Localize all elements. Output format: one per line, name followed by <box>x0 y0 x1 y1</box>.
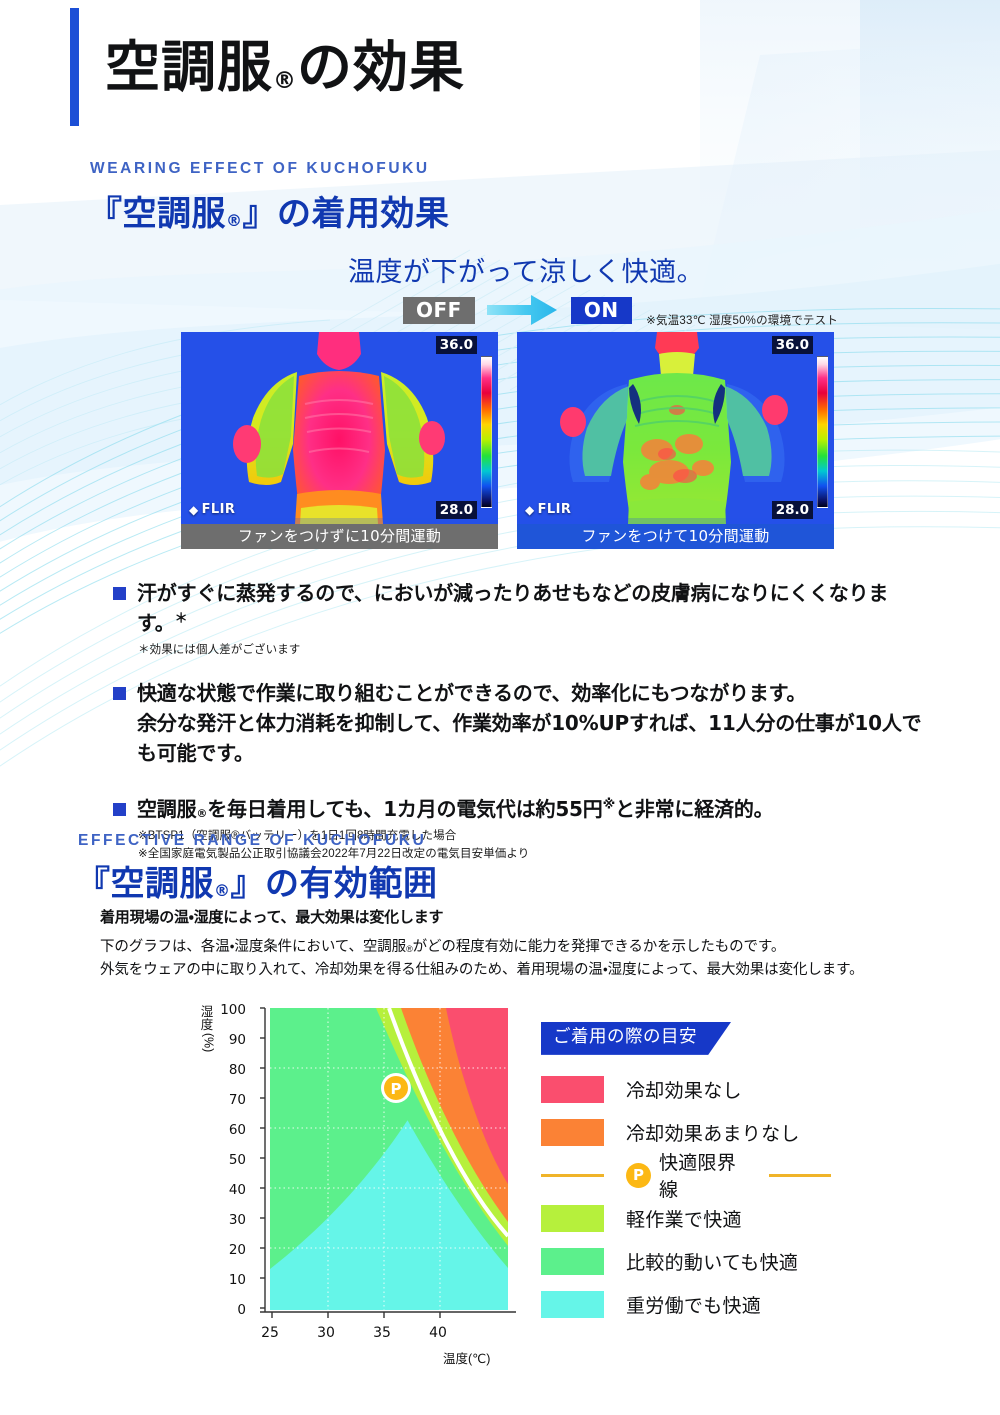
chart-zones <box>270 1008 508 1310</box>
legend-line-left <box>541 1174 604 1177</box>
thermal-caption-on: ファンをつけて10分間運動 <box>517 524 834 549</box>
legend-item-comfort-limit: P 快適限界線 <box>541 1154 831 1197</box>
legend-item-moderate-work: 比較的動いても快適 <box>541 1240 831 1283</box>
legend-label: 比較的動いても快適 <box>626 1248 798 1275</box>
chart-legend: ご着用の際の目安 冷却効果なし 冷却効果あまりなし P 快適限界線 軽作業で快適 <box>541 1022 831 1326</box>
thermal-temp-high: 36.0 <box>772 336 813 354</box>
legend-item-no-cooling: 冷却効果なし <box>541 1068 831 1111</box>
list-item: 空調服®を毎日着用しても、1カ月の電気代は約55円※と非常に経済的。 <box>113 794 923 824</box>
bullet-text-post: を毎日着用しても、1カ月の電気代は約55円 <box>207 797 602 821</box>
section2-subtitle-jp: 『空調服®』の有効範囲 <box>76 856 438 905</box>
thermal-temp-low: 28.0 <box>772 501 813 519</box>
thermal-caption-off: ファンをつけずに10分間運動 <box>181 524 498 549</box>
bullet-text: 汗がすぐに蒸発するので、においが減ったりあせもなどの皮膚病になりにくくなります。… <box>137 578 923 638</box>
flir-diamond-icon: ◆ <box>525 504 535 516</box>
lead-headline: 温度が下がって涼しく快適。 <box>348 250 704 289</box>
effective-range-chart: 湿度 (%) 100 90 80 70 60 50 40 30 20 10 0 <box>198 1000 518 1350</box>
section2-subheading: 着用現場の温・湿度によって、最大効果は変化します <box>100 906 443 927</box>
thermal-scale-bar <box>817 356 828 508</box>
bullet-footnote-mark: ※ <box>603 797 615 812</box>
legend-label: 重労働でも快適 <box>626 1291 761 1318</box>
bullet-text-second-line: 余分な発汗と体力消耗を抑制して、作業効率が10%UPすれば、11人分の仕事が10… <box>137 708 923 768</box>
section1-jp-open: 『空調服 <box>88 194 226 234</box>
chart-ytick: 80 <box>212 1062 246 1078</box>
legend-label: 快適限界線 <box>659 1148 755 1202</box>
page-title-tail: の効果 <box>297 35 465 99</box>
chart-x-axis-label: 温度(℃) <box>443 1348 490 1367</box>
legend-p-marker-icon: P <box>626 1163 651 1188</box>
thermal-card-off: 36.0 28.0 ◆ FLIR ファンをつけずに10分間運動 <box>181 332 498 549</box>
bullet-square-icon <box>113 687 126 700</box>
flir-wordmark: FLIR <box>538 502 572 517</box>
flir-logo: ◆ FLIR <box>525 502 571 517</box>
bullet-square-icon <box>113 803 126 816</box>
flir-wordmark: FLIR <box>202 502 236 517</box>
chart-ytick: 100 <box>212 1002 246 1018</box>
page-title-text: 空調服 <box>105 35 273 99</box>
bullet-note: ＊効果には個人差がございます <box>138 642 923 660</box>
bullet-text: 空調服®を毎日着用しても、1カ月の電気代は約55円※と非常に経済的。 <box>137 794 773 824</box>
chart-xtick: 25 <box>250 1325 290 1341</box>
section2-body-line1-a: 下のグラフは、各温・湿度条件において、空調服 <box>100 939 406 955</box>
chart-ytick: 20 <box>212 1242 246 1258</box>
chart-xtick: 30 <box>306 1325 346 1341</box>
legend-swatch <box>541 1119 604 1146</box>
registered-mark-icon: ® <box>226 211 243 230</box>
section2-jp-open: 『空調服 <box>76 864 214 904</box>
chart-ytick: 40 <box>212 1182 246 1198</box>
chart-ytick: 10 <box>212 1272 246 1288</box>
benefit-list: 汗がすぐに蒸発するので、においが減ったりあせもなどの皮膚病になりにくくなります。… <box>113 578 923 863</box>
on-badge: ON <box>571 297 632 324</box>
section1-subtitle-jp: 『空調服®』の着用効果 <box>88 186 450 235</box>
legend-items: 冷却効果なし 冷却効果あまりなし P 快適限界線 軽作業で快適 比較的動いても快… <box>541 1068 831 1326</box>
legend-header: ご着用の際の目安 <box>541 1022 731 1055</box>
brochure-page: 空調服®の効果 WEARING EFFECT OF KUCHOFUKU 『空調服… <box>0 0 1000 1415</box>
list-item: 汗がすぐに蒸発するので、においが減ったりあせもなどの皮膚病になりにくくなります。… <box>113 578 923 638</box>
registered-mark-icon: ® <box>196 807 207 820</box>
list-item: 快適な状態で作業に取り組むことができるので、効率化にもつながります。 余分な発汗… <box>113 678 923 768</box>
thermal-temp-low: 28.0 <box>436 501 477 519</box>
chart-xtick: 35 <box>362 1325 402 1341</box>
bullet-square-icon <box>113 587 126 600</box>
chart-ytick: 0 <box>212 1302 246 1318</box>
off-badge: OFF <box>403 297 475 324</box>
bullet-text-pre: 空調服 <box>137 797 196 821</box>
arrow-right-icon <box>487 293 559 327</box>
section1-subtitle-en: WEARING EFFECT OF KUCHOFUKU <box>90 160 430 178</box>
page-header: 空調服®の効果 <box>70 8 465 140</box>
section2-body-line2: 外気をウェアの中に取り入れて、冷却効果を得る仕組みのため、着用現場の温・湿度によ… <box>100 959 864 982</box>
legend-swatch <box>541 1248 604 1275</box>
section1-jp-close: 』の着用効果 <box>243 194 450 234</box>
flir-diamond-icon: ◆ <box>189 504 199 516</box>
legend-label: 軽作業で快適 <box>626 1205 742 1232</box>
chart-plot: P <box>198 1000 518 1345</box>
thermal-scale-bar <box>481 356 492 508</box>
legend-swatch <box>541 1291 604 1318</box>
bullet-text-main: 汗がすぐに蒸発するので、においが減ったりあせもなどの皮膚病になりにくくなります。 <box>137 581 888 635</box>
chart-p-marker: P <box>381 1073 411 1103</box>
section2-body: 下のグラフは、各温・湿度条件において、空調服®がどの程度有効に能力を発揮できるか… <box>100 936 864 983</box>
thermal-card-on: 36.0 28.0 ◆ FLIR ファンをつけて10分間運動 <box>517 332 834 549</box>
chart-ytick: 70 <box>212 1092 246 1108</box>
bullet-text: 快適な状態で作業に取り組むことができるので、効率化にもつながります。 <box>137 678 923 708</box>
bullet-footnote-mark: ＊ <box>175 611 188 626</box>
thermal-image-off: 36.0 28.0 ◆ FLIR <box>181 332 498 524</box>
legend-line-right <box>769 1174 831 1177</box>
legend-swatch <box>541 1205 604 1232</box>
thermal-comparison: 36.0 28.0 ◆ FLIR ファンをつけずに10分間運動 <box>181 332 834 549</box>
chart-ytick: 50 <box>212 1152 246 1168</box>
legend-item-heavy-work: 重労働でも快適 <box>541 1283 831 1326</box>
flir-logo: ◆ FLIR <box>189 502 235 517</box>
svg-text:P: P <box>391 1080 402 1098</box>
section2-jp-close: 』の有効範囲 <box>231 864 438 904</box>
title-accent-bar <box>70 8 79 126</box>
off-on-indicator: OFF ON <box>403 293 632 327</box>
registered-mark-icon: ® <box>214 881 231 900</box>
legend-item-light-work: 軽作業で快適 <box>541 1197 831 1240</box>
chart-ytick: 90 <box>212 1032 246 1048</box>
bullet-text-end: と非常に経済的。 <box>615 797 773 821</box>
registered-mark-icon: ® <box>273 68 297 94</box>
legend-swatch <box>541 1076 604 1103</box>
chart-xtick: 40 <box>418 1325 458 1341</box>
chart-ytick: 60 <box>212 1122 246 1138</box>
test-condition-note: ※気温33℃ 湿度50%の環境でテスト <box>646 312 838 328</box>
thermal-image-on: 36.0 28.0 ◆ FLIR <box>517 332 834 524</box>
section2-subtitle-en: EFFECTIVE RANGE OF KUCHOFUKU <box>78 832 426 850</box>
chart-ytick: 30 <box>212 1212 246 1228</box>
thermal-temp-high: 36.0 <box>436 336 477 354</box>
legend-label: 冷却効果あまりなし <box>626 1119 800 1146</box>
section2-body-line1: 下のグラフは、各温・湿度条件において、空調服®がどの程度有効に能力を発揮できるか… <box>100 936 864 959</box>
page-title: 空調服®の効果 <box>105 8 465 140</box>
legend-label: 冷却効果なし <box>626 1076 742 1103</box>
section2-body-line1-b: がどの程度有効に能力を発揮できるかを示したものです。 <box>413 939 786 955</box>
